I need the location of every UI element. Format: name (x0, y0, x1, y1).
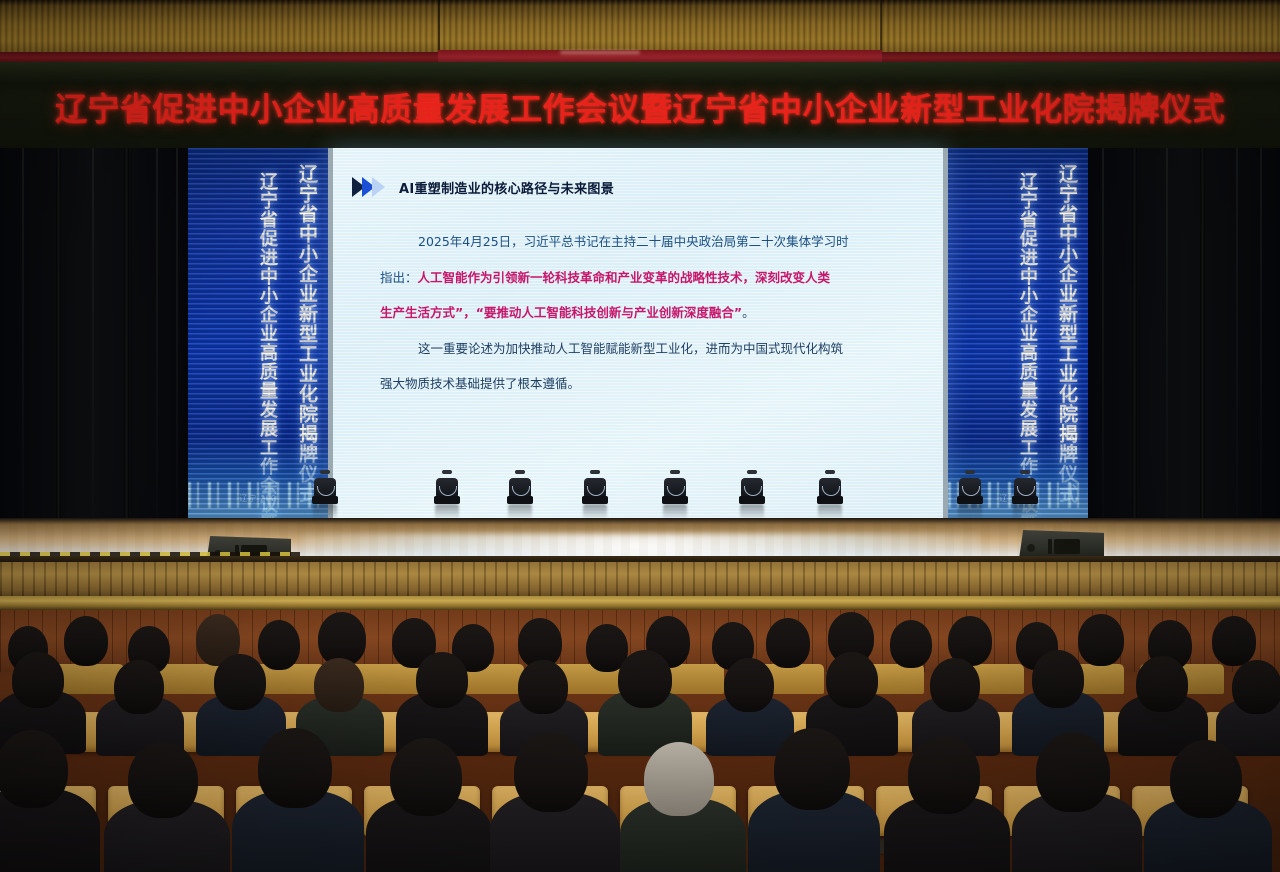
audience-head (214, 654, 266, 710)
audience-head (1232, 660, 1280, 714)
moving-head-light (432, 470, 462, 504)
slide-text-emphasis: 生产生活方式”， (380, 305, 476, 320)
led-skyline-graphic-left (188, 440, 328, 518)
audience-head (890, 620, 932, 668)
audience-head (908, 736, 980, 814)
audience-head (258, 728, 332, 808)
screen-frame-right (943, 148, 948, 518)
slide-line-3: 生产生活方式”，“要推动人工智能科技创新与产业创新深度融合”。 (380, 307, 906, 320)
audience-head (0, 730, 68, 808)
audience-head (1136, 656, 1188, 712)
slide-text: 2025年4月25日，习近平总书记在主持二十届中央政治局第二十次集体学习时 (418, 234, 849, 249)
slide-line-4: 这一重要论述为加快推动人工智能赋能新型工业化，进而为中国式现代化构筑 (380, 343, 906, 356)
slide-text: 强大物质技术基础提供了根本遵循。 (380, 376, 580, 391)
stage-curtain-right (1088, 148, 1280, 548)
moving-head-light (1010, 470, 1040, 504)
led-panel-left: 辽宁省中小企业新型工业化院揭牌仪式 辽宁省促进中小企业高质量发展工作会议暨 辽宁… (188, 148, 328, 518)
slide-text: 这一重要论述为加快推动人工智能赋能新型工业化，进而为中国式现代化构筑 (418, 341, 843, 356)
audience-head (826, 652, 878, 708)
moving-head-light (955, 470, 985, 504)
projection-screen: AI重塑制造业的核心路径与未来图景 2025年4月25日，习近平总书记在主持二十… (328, 148, 948, 518)
audience-head (64, 616, 108, 666)
slide-text: 指出： (380, 270, 418, 285)
conference-hall-photo: 辽宁省促进中小企业高质量发展工作会议暨辽宁省中小企业新型工业化院揭牌仪式 辽宁省… (0, 0, 1280, 872)
stage-curtain-left (0, 148, 188, 548)
chevron-arrows-icon (352, 177, 385, 197)
moving-head-light (310, 470, 340, 504)
led-footer-left: 辽宁 202 (188, 493, 328, 504)
audience-head (114, 660, 164, 714)
moving-head-light (505, 470, 535, 504)
valance-highlight (560, 51, 640, 54)
main-banner-title: 辽宁省促进中小企业高质量发展工作会议暨辽宁省中小企业新型工业化院揭牌仪式 (0, 82, 1280, 132)
stage-area: 辽宁省中小企业新型工业化院揭牌仪式 辽宁省促进中小企业高质量发展工作会议暨 辽宁… (0, 148, 1280, 600)
led-panel-right: 辽宁省中小企业新型工业化院揭牌仪式 辽宁省促进中小企业高质量发展工作会议暨 辽宁… (948, 148, 1088, 518)
audience-head (258, 620, 300, 670)
audience-head (1078, 614, 1124, 666)
audience-head (1036, 732, 1110, 812)
moving-head-light (580, 470, 610, 504)
slide-line-5: 强大物质技术基础提供了根本遵循。 (380, 378, 906, 391)
slide-text-emphasis: 人工智能作为引领新一轮科技革命和产业变革的战略性技术，深刻改变人类 (418, 270, 831, 285)
audience-head (12, 652, 64, 708)
slide-title: AI重塑制造业的核心路径与未来图景 (399, 178, 614, 197)
audience-head (766, 618, 810, 668)
audience-head (416, 652, 468, 708)
moving-head-light (660, 470, 690, 504)
moving-head-light (815, 470, 845, 504)
back-wall-sheen (0, 62, 1280, 84)
audience-head (314, 658, 364, 712)
slide-text-quote: “要推动人工智能科技创新与产业创新深度融合” (476, 305, 742, 320)
auditorium-rail (0, 596, 1280, 610)
slide-line-2: 指出：人工智能作为引领新一轮科技革命和产业变革的战略性技术，深刻改变人类 (380, 272, 906, 285)
slide-line-1: 2025年4月25日，习近平总书记在主持二十届中央政治局第二十次集体学习时 (380, 236, 906, 249)
audience-head (1170, 740, 1242, 818)
moving-head-light (737, 470, 767, 504)
audience-head (390, 738, 462, 816)
audience-head (1032, 650, 1084, 708)
audience-head (644, 742, 714, 816)
stage-edge-warning-stripe (0, 552, 300, 556)
audience-head (930, 658, 980, 712)
slide-body: 2025年4月25日，习近平总书记在主持二十届中央政治局第二十次集体学习时 指出… (380, 236, 906, 414)
audience-head (514, 732, 588, 812)
audience-head (618, 650, 672, 708)
audience-head (774, 728, 850, 810)
audience-head (1212, 616, 1256, 666)
audience-head (724, 658, 774, 712)
slide-header: AI重塑制造业的核心路径与未来图景 (344, 170, 932, 204)
screen-frame-left (328, 148, 333, 518)
slide-text: 。 (742, 305, 755, 320)
audience-head (128, 742, 198, 818)
audience-head (518, 660, 568, 714)
